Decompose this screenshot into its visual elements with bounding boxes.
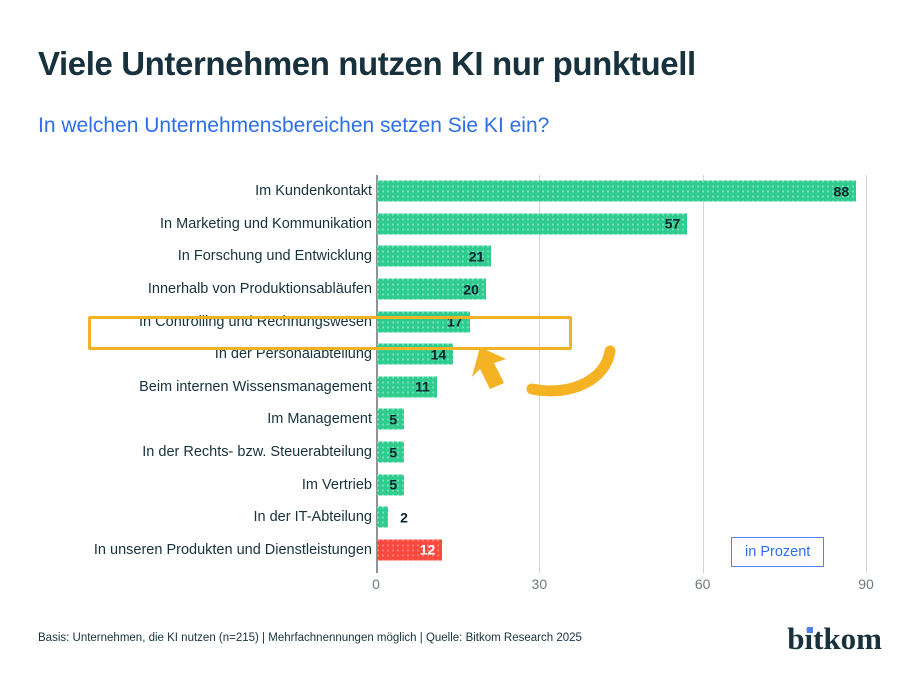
bar: 2 xyxy=(377,507,388,528)
bar: 21 xyxy=(377,246,491,267)
bar: 5 xyxy=(377,474,404,495)
category-label: In der IT-Abteilung xyxy=(254,509,373,525)
category-label: Im Vertrieb xyxy=(302,477,372,493)
bar-container: 2 xyxy=(377,507,388,528)
bar-value-label: 20 xyxy=(463,281,479,297)
x-axis-tick-label: 30 xyxy=(532,576,548,592)
category-label: In unseren Produkten und Dienstleistunge… xyxy=(94,542,372,558)
x-axis-tick-label: 60 xyxy=(695,576,711,592)
bar-row: In der IT-Abteilung2 xyxy=(0,501,920,534)
bar: 88 xyxy=(377,181,856,202)
bar-container: 17 xyxy=(377,311,470,332)
bar-value-label: 57 xyxy=(665,216,681,232)
slide-root: Viele Unternehmen nutzen KI nur punktuel… xyxy=(0,0,920,700)
bar: 5 xyxy=(377,409,404,430)
bar-row: Beim internen Wissensmanagement11 xyxy=(0,371,920,404)
category-label: In der Rechts- bzw. Steuerabteilung xyxy=(142,444,372,460)
x-axis-tick-label: 90 xyxy=(858,576,874,592)
bar-container: 11 xyxy=(377,376,437,397)
bar-value-label: 12 xyxy=(420,542,436,558)
bar-row: In der Personalabteilung14 xyxy=(0,338,920,371)
page-title: Viele Unternehmen nutzen KI nur punktuel… xyxy=(38,45,696,83)
bar: 14 xyxy=(377,344,453,365)
bar-value-label: 21 xyxy=(469,248,485,264)
bitkom-logo: bitkom xyxy=(787,621,882,657)
category-label: Im Management xyxy=(267,411,372,427)
bitkom-wordmark: bitkom xyxy=(787,621,882,656)
bar-container: 14 xyxy=(377,344,453,365)
bar: 11 xyxy=(377,376,437,397)
bar-container: 5 xyxy=(377,442,404,463)
category-label: Innerhalb von Produktionsabläufen xyxy=(148,281,372,297)
bar-container: 21 xyxy=(377,246,491,267)
bar: 57 xyxy=(377,213,687,234)
bar-value-label: 5 xyxy=(389,477,397,493)
bar-container: 20 xyxy=(377,279,486,300)
bar-row: Innerhalb von Produktionsabläufen20 xyxy=(0,273,920,306)
bar-value-label: 5 xyxy=(389,444,397,460)
bar: 5 xyxy=(377,442,404,463)
bar-container: 12 xyxy=(377,539,442,560)
bar-row: Im Management5 xyxy=(0,403,920,436)
bar-value-label: 2 xyxy=(400,509,408,525)
category-label: In Forschung und Entwicklung xyxy=(178,248,372,264)
bar-value-label: 17 xyxy=(447,314,463,330)
logo-dot-icon xyxy=(807,627,813,633)
category-label: In der Personalabteilung xyxy=(215,346,372,362)
bar-row: In Marketing und Kommunikation57 xyxy=(0,208,920,241)
bar-container: 88 xyxy=(377,181,856,202)
bar-value-label: 88 xyxy=(834,183,850,199)
category-label: In Marketing und Kommunikation xyxy=(160,216,372,232)
bar-container: 5 xyxy=(377,474,404,495)
bar-row: In Controlling und Rechnungswesen17 xyxy=(0,305,920,338)
category-label: In Controlling und Rechnungswesen xyxy=(139,314,372,330)
bar-container: 5 xyxy=(377,409,404,430)
bar-value-label: 11 xyxy=(415,379,430,395)
bar-row: Im Vertrieb5 xyxy=(0,468,920,501)
bar: 17 xyxy=(377,311,470,332)
bar-row: In der Rechts- bzw. Steuerabteilung5 xyxy=(0,436,920,469)
bar-value-label: 14 xyxy=(431,346,447,362)
bar-row: Im Kundenkontakt88 xyxy=(0,175,920,208)
bar-chart: 0306090 Im Kundenkontakt88In Marketing u… xyxy=(0,175,920,585)
bar: 20 xyxy=(377,279,486,300)
footer-source-note: Basis: Unternehmen, die KI nutzen (n=215… xyxy=(38,632,582,644)
page-subtitle: In welchen Unternehmensbereichen setzen … xyxy=(38,114,549,138)
category-label: Im Kundenkontakt xyxy=(255,183,372,199)
bar-row: In Forschung und Entwicklung21 xyxy=(0,240,920,273)
bar: 12 xyxy=(377,539,442,560)
legend-in-prozent: in Prozent xyxy=(731,537,824,567)
bar-value-label: 5 xyxy=(389,411,397,427)
x-axis-tick-label: 0 xyxy=(372,576,380,592)
bar-container: 57 xyxy=(377,213,687,234)
category-label: Beim internen Wissensmanagement xyxy=(139,379,372,395)
